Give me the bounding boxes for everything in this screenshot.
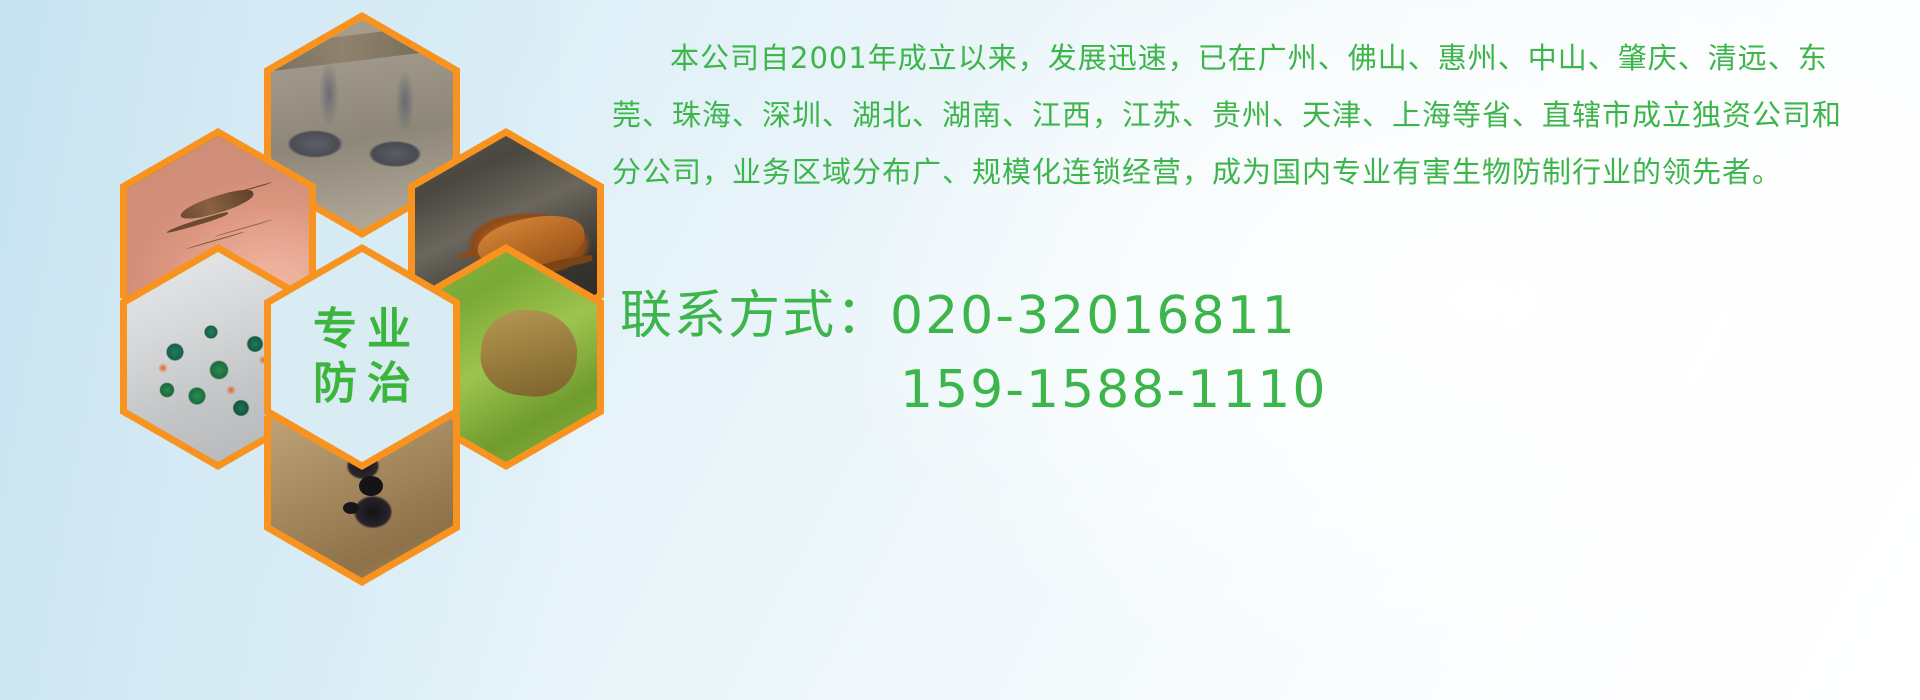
slogan-text: 专业 防治: [271, 252, 453, 462]
contact-block: 联系方式：020-32016811 159-1588-1110: [612, 279, 1882, 427]
company-intro-paragraph: 本公司自2001年成立以来，发展迅速，已在广州、佛山、惠州、中山、肇庆、清远、东…: [612, 30, 1862, 201]
pest-control-banner: 专业 防治 本公司自2001年成立以来，发展迅速，已在广州、佛山、惠州、中山、肇…: [0, 0, 1920, 700]
slogan-line-2: 防治: [303, 362, 421, 406]
phone-primary[interactable]: 020-32016811: [890, 286, 1297, 346]
slogan-line-1: 专业: [303, 308, 421, 352]
content-column: 本公司自2001年成立以来，发展迅速，已在广州、佛山、惠州、中山、肇庆、清远、东…: [612, 30, 1882, 427]
hex-photo-cluster: 专业 防治: [92, 8, 592, 558]
hex-inner: 专业 防治: [271, 252, 453, 462]
contact-line-primary: 联系方式：020-32016811: [612, 279, 1882, 353]
contact-line-secondary: 159-1588-1110: [612, 353, 1882, 427]
contact-label: 联系方式：: [620, 286, 890, 346]
phone-secondary[interactable]: 159-1588-1110: [900, 360, 1327, 420]
